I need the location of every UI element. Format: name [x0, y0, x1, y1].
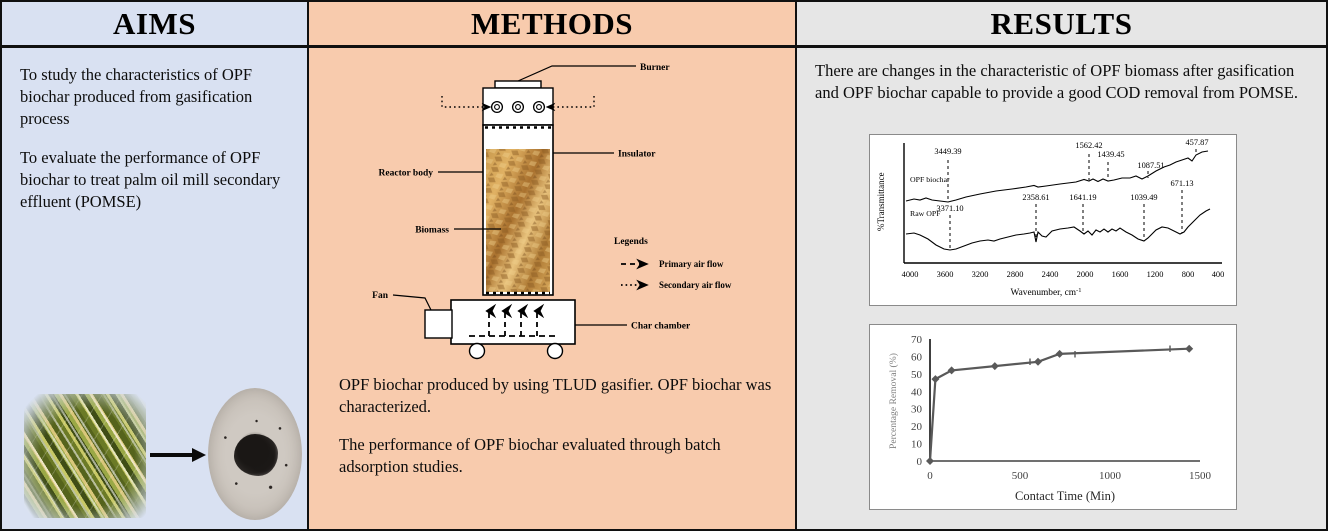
removal-x-ticklabels: 0 500 1000 1500 [927, 470, 1211, 482]
ftir-series-label-biochar: OPF biochar [910, 175, 950, 184]
arrow-head [192, 448, 206, 462]
wheel-left [470, 344, 485, 359]
removal-y-ticklabels: 0 10 20 30 40 50 60 70 [911, 334, 923, 468]
removal-ytick-0: 0 [917, 456, 923, 468]
removal-ytick-40: 40 [911, 386, 923, 398]
methods-spacer [339, 418, 781, 434]
ftir-xtick-2000: 2000 [1077, 270, 1094, 279]
label-reactor-body: Reactor body [379, 169, 434, 179]
removal-ytick-50: 50 [911, 369, 923, 381]
ftir-peak-label-1087: 1087.51 [1137, 161, 1164, 170]
methods-paragraph-2: The performance of OPF biochar evaluated… [339, 434, 781, 478]
label-biomass: Biomass [415, 226, 449, 236]
removal-data-markers [926, 345, 1193, 465]
fan-leader-line [393, 295, 431, 310]
chart-cod-removal: Percentage Removal (%) 0 10 20 30 40 50 … [869, 324, 1237, 510]
ftir-curve-raw-opf [906, 209, 1210, 250]
fan-box [425, 310, 452, 338]
removal-ytick-60: 60 [911, 351, 923, 363]
removal-marker-6 [1185, 345, 1193, 353]
chart-ftir-spectrum: %Transmittance OPF biochar Raw OPF 3449.… [869, 134, 1237, 306]
ftir-svg: %Transmittance OPF biochar Raw OPF 3449.… [870, 135, 1236, 305]
legend-label-primary-air: Primary air flow [659, 259, 724, 269]
ftir-peak-label-3449: 3449.39 [934, 147, 961, 156]
ftir-xtick-400: 400 [1212, 270, 1225, 279]
removal-ytick-30: 30 [911, 404, 923, 416]
aims-paragraph-2: To evaluate the performance of OPF bioch… [20, 147, 289, 212]
graphical-abstract: AIMS To study the characteristics of OPF… [0, 0, 1328, 531]
burner-leader-line [518, 66, 636, 81]
removal-marker-5 [1056, 350, 1064, 358]
removal-minor-ticks [1030, 346, 1170, 366]
ftir-xtick-2400: 2400 [1042, 270, 1059, 279]
process-arrow-icon [150, 448, 208, 462]
panel-body-results: There are changes in the characteristic … [797, 48, 1326, 529]
ftir-xtick-1200: 1200 [1147, 270, 1164, 279]
panel-header-aims: AIMS [2, 2, 307, 48]
ftir-x-axis-label: Wavenumber, cm [1011, 288, 1077, 298]
tlud-gasifier-diagram: Burner [309, 48, 793, 366]
panel-methods: METHODS [308, 0, 796, 531]
ftir-peak-label-1439: 1439.45 [1097, 150, 1124, 159]
removal-xtick-0: 0 [927, 470, 933, 482]
legend-title: Legends [614, 237, 648, 247]
panel-header-methods: METHODS [309, 2, 795, 48]
panel-aims: AIMS To study the characteristics of OPF… [0, 0, 308, 531]
removal-ytick-10: 10 [911, 439, 923, 451]
label-burner: Burner [640, 63, 670, 73]
ftir-y-axis-label: %Transmittance [876, 172, 886, 231]
removal-marker-0 [926, 457, 934, 465]
ftir-xtick-3600: 3600 [937, 270, 954, 279]
char-chamber [451, 300, 575, 344]
panel-title-methods: METHODS [471, 6, 633, 42]
removal-marker-4 [1034, 358, 1042, 366]
ftir-xtick-3200: 3200 [972, 270, 989, 279]
wheel-right [548, 344, 563, 359]
ftir-peak-label-457: 457.87 [1185, 138, 1208, 147]
ftir-peak-label-1641: 1641.19 [1069, 193, 1096, 202]
label-char-chamber: Char chamber [631, 322, 691, 332]
removal-marker-2 [948, 366, 956, 374]
burner-plate [495, 81, 541, 88]
removal-xtick-1500: 1500 [1189, 470, 1212, 482]
nozzle-left-inner [495, 105, 500, 110]
ftir-peak-label-1562: 1562.42 [1075, 141, 1102, 150]
panel-header-results: RESULTS [797, 2, 1326, 48]
results-paragraph: There are changes in the characteristic … [815, 60, 1310, 105]
arrow-shaft [150, 453, 194, 457]
ftir-xtick-2800: 2800 [1007, 270, 1024, 279]
removal-y-axis-label: Percentage Removal (%) [888, 353, 899, 449]
panel-title-aims: AIMS [113, 6, 196, 42]
biomass-texture [486, 149, 550, 292]
ftir-peak-label-2358: 2358.61 [1022, 193, 1049, 202]
ftir-curve-opf-biochar [906, 151, 1208, 202]
aims-spacer [20, 129, 289, 147]
label-insulator: Insulator [618, 150, 656, 160]
methods-text-block: OPF biochar produced by using TLUD gasif… [339, 374, 781, 478]
legend-label-secondary-air: Secondary air flow [659, 280, 732, 290]
label-fan: Fan [372, 291, 389, 301]
biochar-powder-pile [234, 434, 278, 476]
nozzle-right-inner [537, 105, 542, 110]
panel-body-methods: Burner [309, 48, 795, 529]
removal-marker-1 [931, 375, 939, 383]
removal-ytick-20: 20 [911, 421, 923, 433]
ftir-peak-label-1039: 1039.49 [1130, 193, 1157, 202]
ftir-xtick-4000: 4000 [902, 270, 919, 279]
secondary-air-flow-right [547, 96, 594, 107]
removal-xtick-500: 500 [1012, 470, 1029, 482]
removal-xtick-1000: 1000 [1099, 470, 1122, 482]
ftir-xtick-800: 800 [1182, 270, 1195, 279]
aims-paragraph-1: To study the characteristics of OPF bioc… [20, 64, 289, 129]
aims-figure-group [10, 388, 302, 523]
ftir-x-ticklabels: 4000 3600 3200 2800 2400 2000 1600 1200 … [902, 270, 1225, 279]
removal-svg: Percentage Removal (%) 0 10 20 30 40 50 … [870, 325, 1236, 509]
panel-title-results: RESULTS [991, 6, 1133, 42]
nozzle-center-inner [516, 105, 521, 110]
ftir-peak-label-3371: 3371.10 [936, 204, 963, 213]
removal-data-line [930, 349, 1189, 461]
opf-frond-photo [24, 394, 146, 518]
removal-ytick-70: 70 [911, 334, 923, 346]
opf-biochar-photo [208, 388, 302, 520]
removal-marker-3 [991, 362, 999, 370]
ftir-xtick-1600: 1600 [1112, 270, 1129, 279]
panel-body-aims: To study the characteristics of OPF bioc… [2, 48, 307, 529]
panel-results: RESULTS There are changes in the charact… [796, 0, 1328, 531]
ftir-x-axis-label-superscript: -1 [1076, 287, 1081, 294]
ftir-peak-label-671: 671.13 [1170, 179, 1193, 188]
methods-paragraph-1: OPF biochar produced by using TLUD gasif… [339, 374, 781, 418]
removal-x-axis-label: Contact Time (Min) [1015, 489, 1115, 503]
ftir-x-axis-label-group: Wavenumber, cm-1 [1011, 287, 1082, 299]
